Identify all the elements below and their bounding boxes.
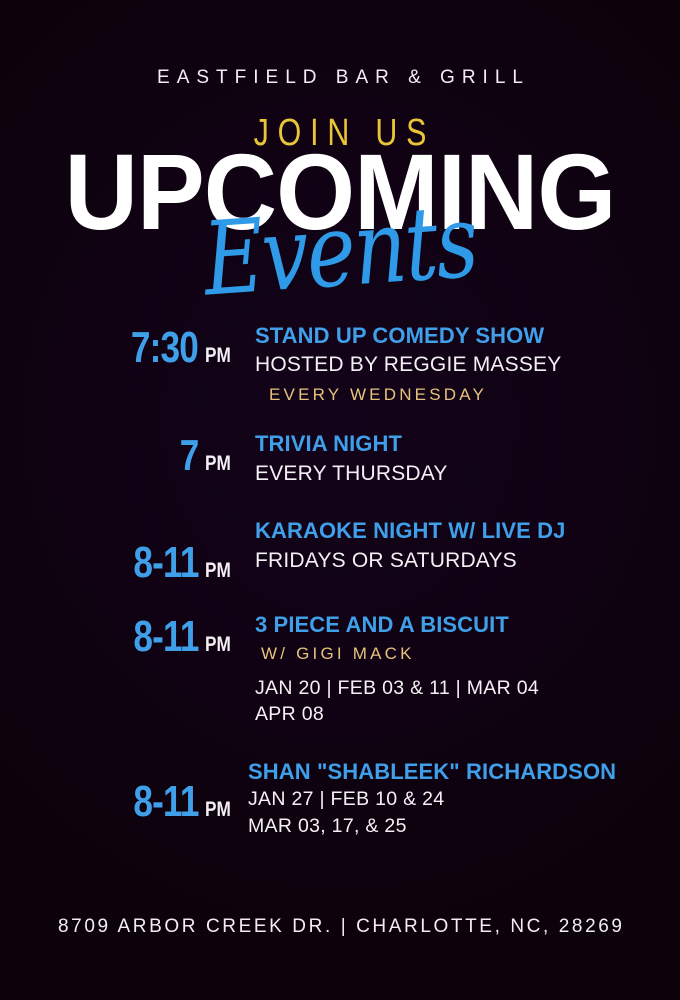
venue-name: EASTFIELD BAR & GRILL	[0, 0, 680, 87]
event-time-value: 8-11	[133, 780, 198, 824]
event-time-suffix: PM	[205, 634, 231, 655]
event-date-line: MAR 03, 17, & 25	[248, 813, 680, 839]
event-time-suffix: PM	[205, 345, 231, 366]
event-time-value: 7	[180, 434, 199, 478]
event-recurrence: EVERY WEDNESDAY	[255, 384, 680, 406]
event-recurrence: W/ GIGI MACK	[255, 643, 680, 665]
event-time-suffix: PM	[205, 799, 231, 820]
event-row: 8-11PM KARAOKE NIGHT W/ LIVE DJ FRIDAYS …	[0, 519, 680, 585]
event-subtitle: EVERY THURSDAY	[255, 460, 680, 488]
event-date-line: JAN 27 | FEB 10 & 24	[248, 786, 680, 812]
event-time: 7:30PM	[0, 324, 236, 370]
event-info: 3 PIECE AND A BISCUIT W/ GIGI MACK JAN 2…	[236, 613, 680, 727]
event-time: 8-11PM	[0, 760, 236, 824]
events-list: 7:30PM STAND UP COMEDY SHOW HOSTED BY RE…	[0, 324, 680, 839]
event-time-value: 8-11	[133, 615, 198, 659]
event-time-value: 8-11	[133, 541, 198, 585]
event-row: 7:30PM STAND UP COMEDY SHOW HOSTED BY RE…	[0, 324, 680, 406]
event-date-line: JAN 20 | FEB 03 & 11 | MAR 04	[255, 675, 680, 701]
event-info: STAND UP COMEDY SHOW HOSTED BY REGGIE MA…	[236, 324, 680, 406]
event-poster: EASTFIELD BAR & GRILL JOIN US UPCOMING E…	[0, 0, 680, 1000]
event-title: 3 PIECE AND A BISCUIT	[255, 613, 680, 638]
event-time-suffix: PM	[205, 560, 231, 581]
event-date-line: APR 08	[255, 701, 680, 727]
event-subtitle: HOSTED BY REGGIE MASSEY	[255, 351, 680, 379]
event-info: TRIVIA NIGHT EVERY THURSDAY	[236, 432, 680, 487]
event-title: SHAN "SHABLEEK" RICHARDSON	[248, 760, 680, 785]
event-subtitle: FRIDAYS OR SATURDAYS	[255, 547, 680, 575]
event-time-value: 7:30	[131, 326, 198, 370]
event-time: 8-11PM	[0, 519, 236, 585]
event-title: TRIVIA NIGHT	[255, 432, 680, 457]
event-info: KARAOKE NIGHT W/ LIVE DJ FRIDAYS OR SATU…	[236, 519, 680, 574]
event-row: 8-11PM SHAN "SHABLEEK" RICHARDSON JAN 27…	[0, 760, 680, 839]
event-time: 7PM	[0, 432, 236, 478]
event-info: SHAN "SHABLEEK" RICHARDSON JAN 27 | FEB …	[236, 760, 680, 839]
event-time-suffix: PM	[205, 453, 231, 474]
event-time: 8-11PM	[0, 613, 236, 659]
event-row: 7PM TRIVIA NIGHT EVERY THURSDAY	[0, 432, 680, 487]
venue-address: 8709 ARBOR CREEK DR. | CHARLOTTE, NC, 28…	[0, 916, 680, 938]
event-row: 8-11PM 3 PIECE AND A BISCUIT W/ GIGI MAC…	[0, 613, 680, 727]
event-title: KARAOKE NIGHT W/ LIVE DJ	[255, 519, 680, 544]
event-title: STAND UP COMEDY SHOW	[255, 324, 680, 349]
